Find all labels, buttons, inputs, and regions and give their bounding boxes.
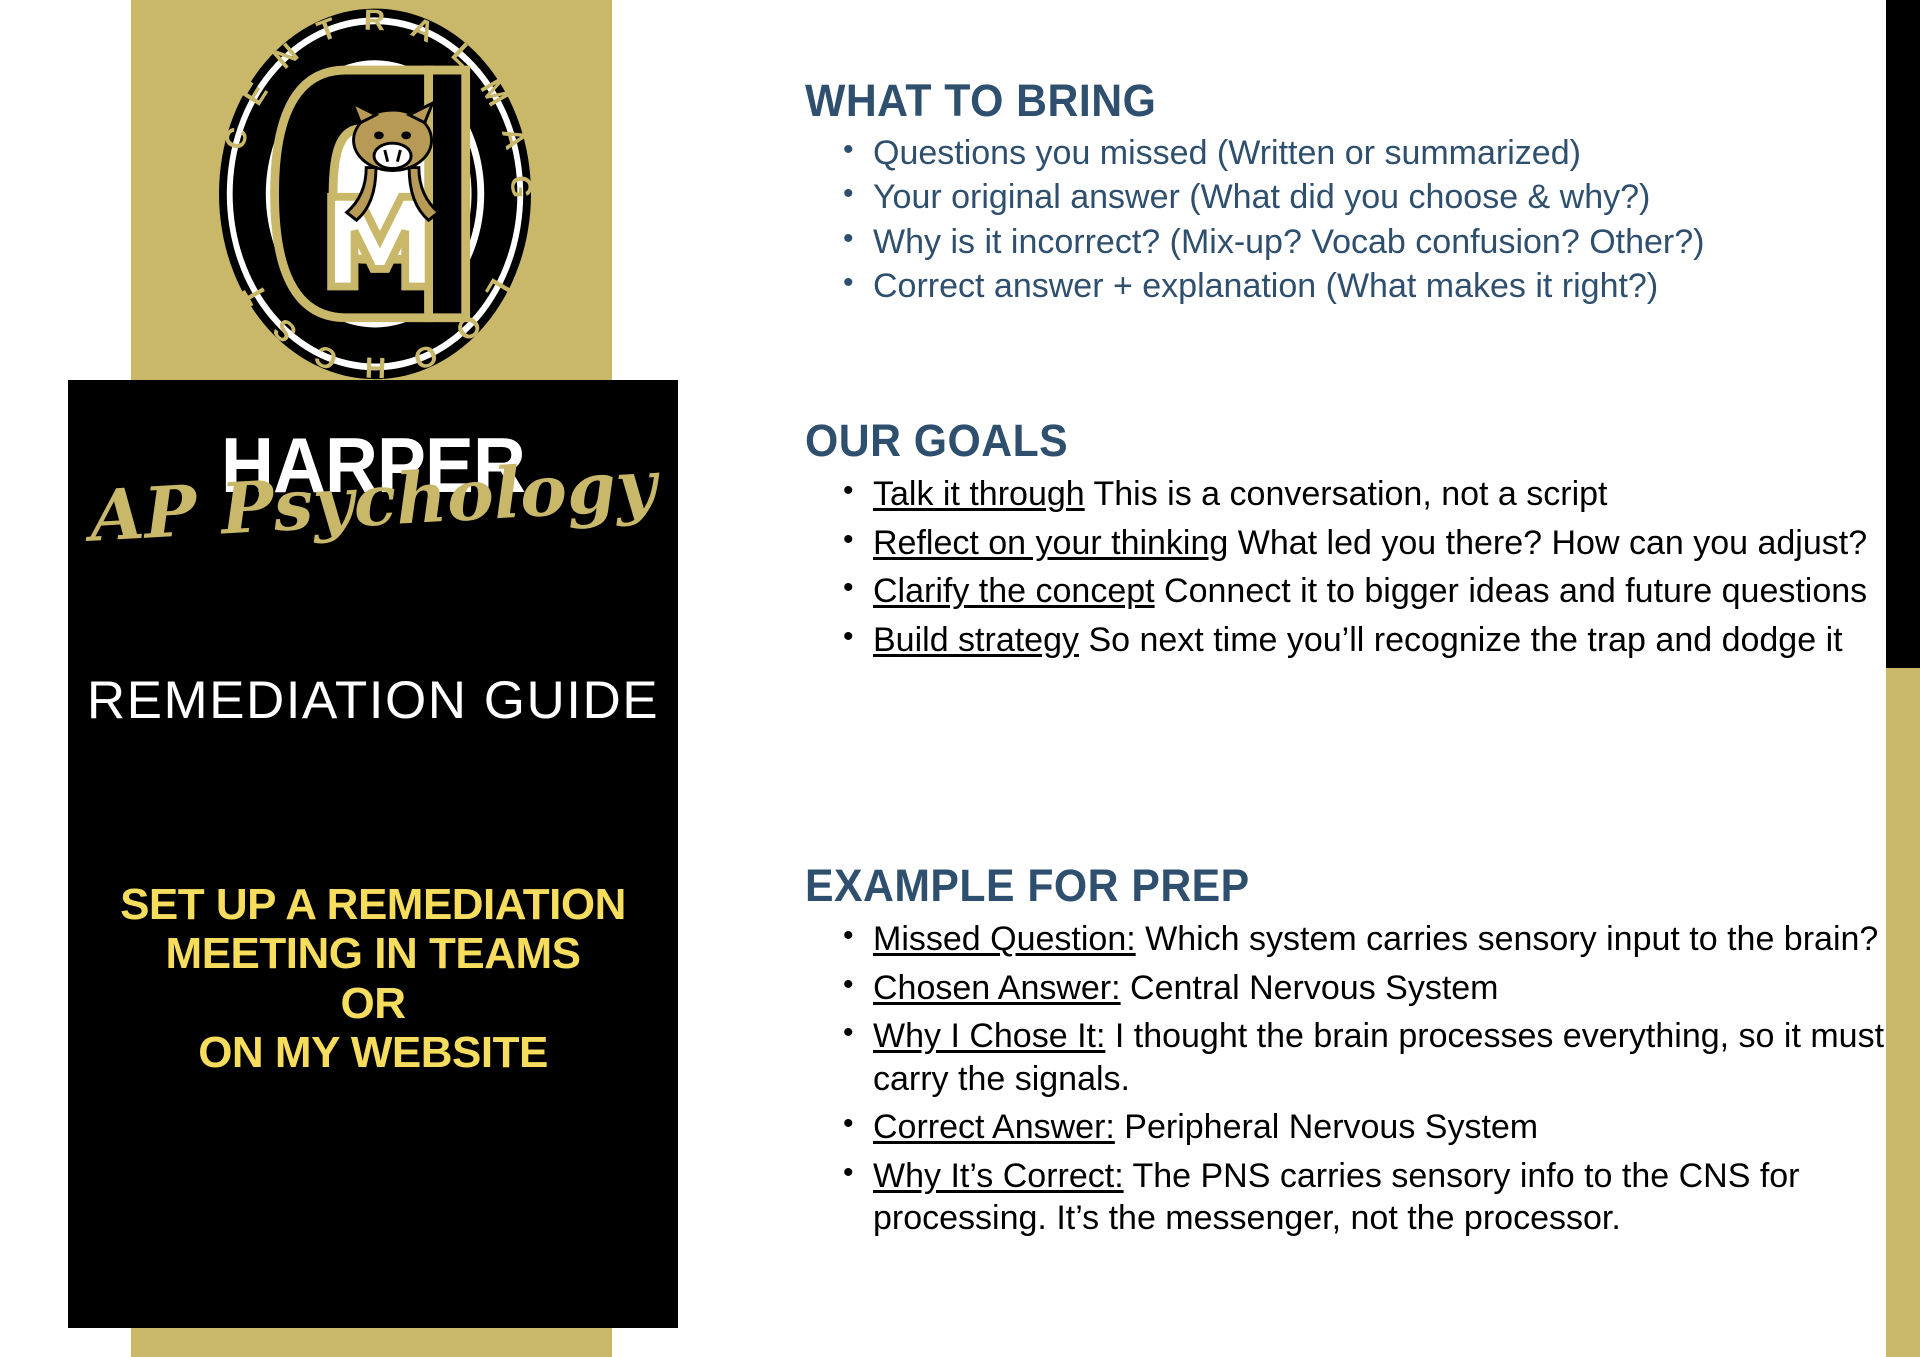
cta-line-2: MEETING IN TEAMS <box>68 929 678 978</box>
what-to-bring-list: Questions you missed (Written or summari… <box>805 133 1885 307</box>
list-item: Missed Question: Which system carries se… <box>873 918 1885 961</box>
section-what-to-bring: WHAT TO BRING Questions you missed (Writ… <box>805 75 1885 311</box>
example-list: Missed Question: Which system carries se… <box>805 918 1885 1240</box>
remediation-card: HARPER AP Psychology REMEDIATION GUIDE S… <box>68 380 678 1328</box>
item-text: So next time you’ll recognize the trap a… <box>1079 621 1843 659</box>
item-text: Which system carries sensory input to th… <box>1136 920 1879 958</box>
list-item: Talk it through This is a conversation, … <box>873 473 1885 516</box>
section-our-goals: OUR GOALS Talk it through This is a conv… <box>805 415 1885 667</box>
section-heading: EXAMPLE FOR PREP <box>805 860 1831 912</box>
right-edge-black-bar <box>1886 0 1920 668</box>
list-item: Clarify the concept Connect it to bigger… <box>873 570 1885 613</box>
list-item: Chosen Answer: Central Nervous System <box>873 967 1885 1010</box>
list-item: Correct answer + explanation (What makes… <box>873 266 1885 306</box>
section-example-for-prep: EXAMPLE FOR PREP Missed Question: Which … <box>805 860 1885 1246</box>
list-item: Reflect on your thinking What led you th… <box>873 522 1885 565</box>
section-heading: WHAT TO BRING <box>805 75 1831 127</box>
cta-line-4: ON MY WEBSITE <box>68 1028 678 1077</box>
item-lead: Build strategy <box>873 621 1079 659</box>
school-crest-logo: C E N T R A L M A G N E L O O H C S T <box>180 0 570 384</box>
list-item: Why It’s Correct: The PNS carries sensor… <box>873 1155 1885 1240</box>
content-column: WHAT TO BRING Questions you missed (Writ… <box>805 0 1885 1357</box>
our-goals-list: Talk it through This is a conversation, … <box>805 473 1885 661</box>
card-title: REMEDIATION GUIDE <box>68 670 678 731</box>
item-text: What led you there? How can you adjust? <box>1228 524 1867 562</box>
item-lead: Why I Chose It: <box>873 1017 1105 1055</box>
list-item: Your original answer (What did you choos… <box>873 177 1885 217</box>
item-text: Connect it to bigger ideas and future qu… <box>1155 572 1868 610</box>
item-lead: Reflect on your thinking <box>873 524 1228 562</box>
crest-icon: C E N T R A L M A G N E L O O H C S T <box>180 0 570 384</box>
item-text: Your original answer (What did you choos… <box>873 178 1650 216</box>
list-item: Build strategy So next time you’ll recog… <box>873 619 1885 662</box>
item-lead: Chosen Answer: <box>873 969 1121 1007</box>
right-edge-gold-bar <box>1886 668 1920 1357</box>
poster-page: C E N T R A L M A G N E L O O H C S T <box>0 0 1920 1357</box>
item-text: Correct answer + explanation (What makes… <box>873 267 1658 305</box>
item-lead: Correct Answer: <box>873 1108 1115 1146</box>
brand-lockup: HARPER AP Psychology <box>68 408 678 598</box>
cta-line-3: OR <box>68 979 678 1028</box>
item-lead: Clarify the concept <box>873 572 1155 610</box>
list-item: Questions you missed (Written or summari… <box>873 133 1885 173</box>
left-panel: C E N T R A L M A G N E L O O H C S T <box>0 0 660 1357</box>
list-item: Why I Chose It: I thought the brain proc… <box>873 1015 1885 1100</box>
cta-line-1: SET UP A REMEDIATION <box>68 880 678 929</box>
section-heading: OUR GOALS <box>805 415 1831 467</box>
item-text: Questions you missed (Written or summari… <box>873 134 1581 172</box>
item-lead: Why It’s Correct: <box>873 1157 1124 1195</box>
list-item: Why is it incorrect? (Mix-up? Vocab conf… <box>873 222 1885 262</box>
list-item: Correct Answer: Peripheral Nervous Syste… <box>873 1106 1885 1149</box>
item-text: This is a conversation, not a script <box>1085 475 1608 513</box>
item-lead: Talk it through <box>873 475 1085 513</box>
card-cta-block: SET UP A REMEDIATION MEETING IN TEAMS OR… <box>68 880 678 1077</box>
item-lead: Missed Question: <box>873 920 1136 958</box>
item-text: Central Nervous System <box>1121 969 1499 1007</box>
item-text: Why is it incorrect? (Mix-up? Vocab conf… <box>873 223 1704 261</box>
item-text: Peripheral Nervous System <box>1115 1108 1538 1146</box>
